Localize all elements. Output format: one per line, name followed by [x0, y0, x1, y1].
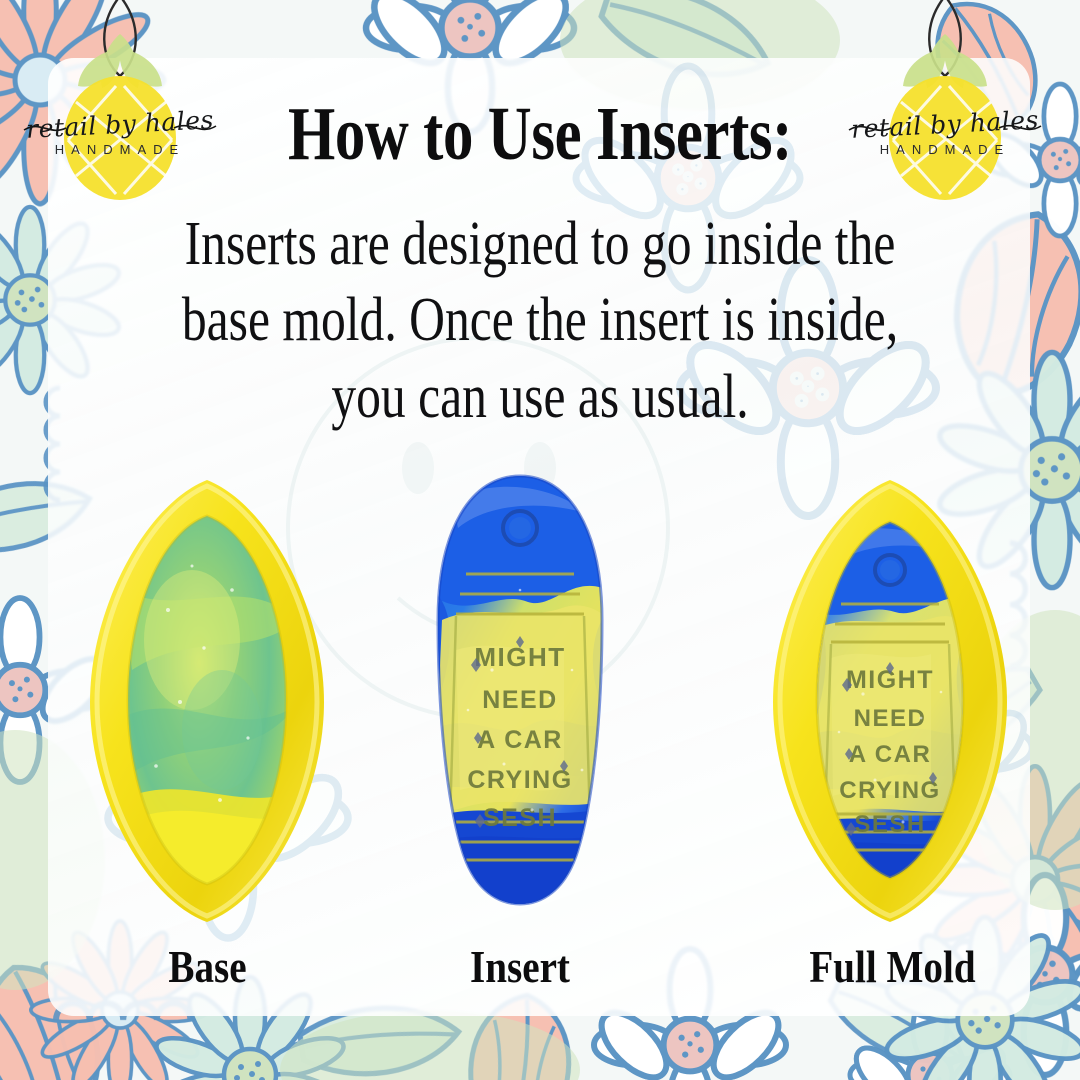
insert-image: MIGHT NEED A CAR CRYING SESH — [432, 470, 608, 910]
svg-text:A CAR: A CAR — [849, 741, 932, 768]
svg-text:NEED: NEED — [482, 686, 557, 714]
instruction-paragraph: Inserts are designed to go inside the ba… — [156, 206, 924, 435]
svg-text:SESH: SESH — [483, 804, 557, 832]
svg-text:CRYING: CRYING — [467, 766, 572, 794]
caption-base: Base — [82, 940, 333, 993]
svg-text:CRYING: CRYING — [839, 777, 940, 804]
product-row: MIGHT NEED A CAR CRYING SESH — [0, 470, 1080, 950]
caption-insert: Insert — [418, 940, 622, 993]
product-base — [72, 470, 342, 930]
product-insert: MIGHT NEED A CAR CRYING SESH — [432, 470, 608, 930]
svg-text:NEED: NEED — [854, 705, 927, 732]
poster-canvas: retail by hales HANDMADE retail by hales… — [0, 0, 1080, 1080]
svg-text:A CAR: A CAR — [477, 726, 563, 754]
product-full-mold: MIGHT NEED A CAR CRYING SESH — [755, 470, 1025, 930]
full-mold-image: MIGHT NEED A CAR CRYING SESH — [755, 470, 1025, 930]
base-mold-image — [72, 470, 342, 930]
caption-full-mold: Full Mold — [767, 940, 1018, 993]
svg-text:SESH: SESH — [854, 811, 925, 838]
page-title: How to Use Inserts: — [108, 96, 972, 172]
